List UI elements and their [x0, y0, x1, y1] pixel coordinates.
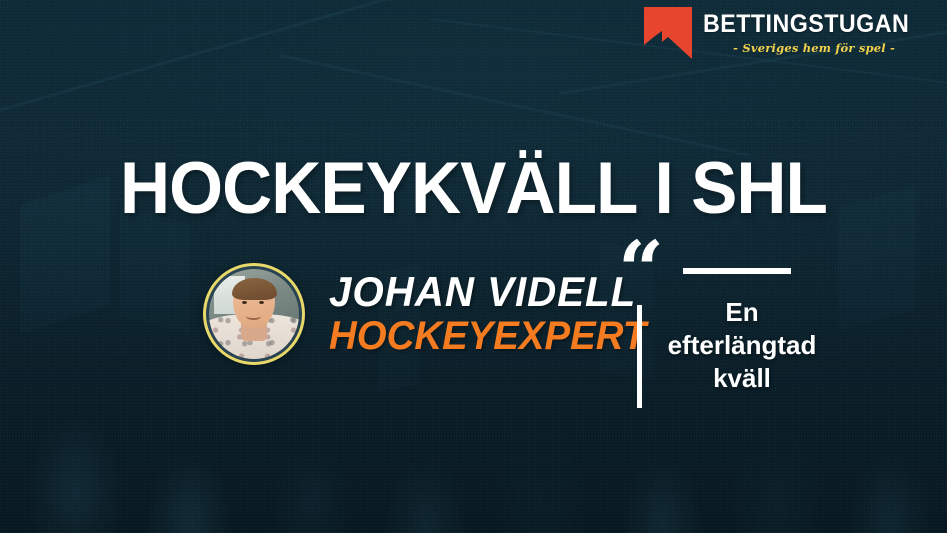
house-banner-icon	[644, 7, 692, 59]
quote-block: “ En efterlängtad kväll	[618, 252, 848, 417]
avatar-photo-eye-right	[259, 301, 264, 304]
quote-text: En efterlängtad kväll	[642, 296, 842, 395]
brand-logo: BETTINGSTUGAN - Sveriges hem för spel -	[644, 7, 925, 59]
avatar-photo-hair	[232, 278, 277, 300]
presenter-names: JOHAN VIDELL HOCKEYEXPERT	[329, 271, 659, 357]
brand-logo-text: BETTINGSTUGAN - Sveriges hem för spel -	[703, 12, 925, 55]
quote-line-1: En	[642, 296, 842, 329]
presenter-name: JOHAN VIDELL	[329, 271, 646, 314]
brand-tagline: - Sveriges hem för spel -	[703, 43, 925, 55]
presenter-block: JOHAN VIDELL HOCKEYEXPERT	[203, 263, 659, 365]
presenter-role: HOCKEYEXPERT	[329, 316, 646, 357]
page-title: HOCKEYKVÄLL I SHL	[24, 152, 924, 225]
brand-name: BETTINGSTUGAN	[703, 12, 909, 37]
quote-horizontal-rule	[683, 268, 791, 274]
avatar	[203, 263, 305, 365]
thumbnail-canvas: BETTINGSTUGAN - Sveriges hem för spel - …	[0, 0, 947, 533]
quote-line-2: efterlängtad	[642, 329, 842, 362]
quote-line-3: kväll	[642, 362, 842, 395]
avatar-photo	[209, 269, 299, 359]
